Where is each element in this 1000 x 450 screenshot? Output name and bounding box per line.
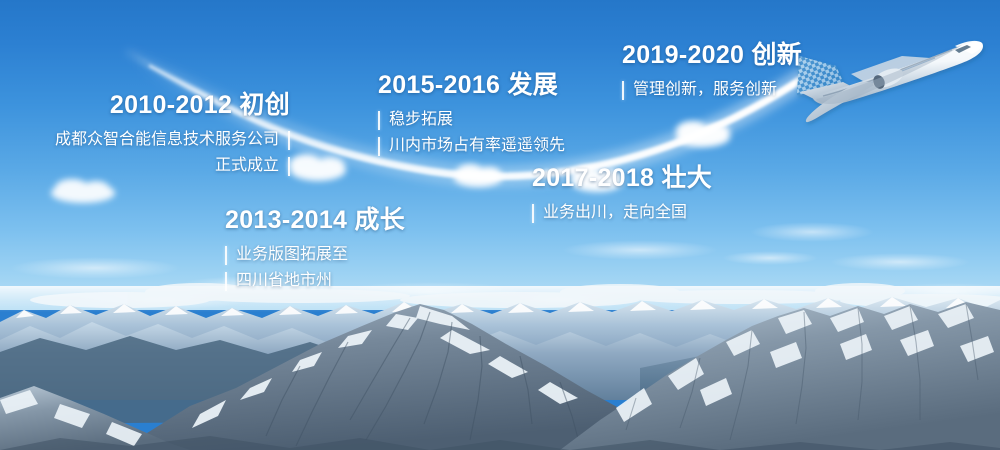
milestone-heading: 2019-2020 创新 <box>622 40 802 70</box>
milestone-heading: 2010-2012 初创 <box>10 90 290 120</box>
milestone-2015-2016: 2015-2016 发展 稳步拓展 川内市场占有率遥遥领先 <box>378 70 565 159</box>
accent-bar <box>225 272 227 291</box>
milestone-2017-2018: 2017-2018 壮大 业务出川，走向全国 <box>532 163 712 226</box>
ridge-mid <box>0 322 1000 400</box>
milestone-line: 成都众智合能信息技术服务公司 <box>10 127 290 153</box>
milestone-line: 管理创新，服务创新 <box>622 77 802 103</box>
milestone-2013-2014: 2013-2014 成长 业务版图拓展至 四川省地市州 <box>225 205 405 294</box>
milestone-line-text: 管理创新，服务创新 <box>633 77 777 103</box>
left-shoulder <box>0 386 190 450</box>
milestone-line-text: 成都众智合能信息技术服务公司 <box>55 127 279 153</box>
milestone-line-text: 业务出川，走向全国 <box>543 200 687 226</box>
milestone-line-text: 业务版图拓展至 <box>236 242 348 268</box>
foreground-ridge <box>0 436 1000 450</box>
accent-bar <box>225 246 227 265</box>
milestone-line: 稳步拓展 <box>378 107 565 133</box>
main-peak-snow <box>192 306 578 428</box>
milestone-line-text: 川内市场占有率遥遥领先 <box>389 133 565 159</box>
milestone-2019-2020: 2019-2020 创新 管理创新，服务创新 <box>622 40 802 103</box>
milestone-line-text: 四川省地市州 <box>236 268 332 294</box>
accent-bar <box>378 111 380 130</box>
accent-bar <box>288 157 290 176</box>
milestone-2010-2012: 2010-2012 初创 成都众智合能信息技术服务公司 正式成立 <box>10 90 290 179</box>
milestone-line: 业务版图拓展至 <box>225 242 405 268</box>
main-peak <box>120 304 700 450</box>
hills-left <box>0 336 520 424</box>
right-range <box>560 302 1000 450</box>
milestone-heading: 2017-2018 壮大 <box>532 163 712 193</box>
valley-floor <box>700 352 1000 396</box>
right-range-texture <box>626 304 978 440</box>
accent-bar <box>532 204 534 223</box>
milestone-heading: 2013-2014 成长 <box>225 205 405 235</box>
main-peak-texture <box>266 312 580 446</box>
accent-bar <box>288 131 290 150</box>
milestone-line: 业务出川，走向全国 <box>532 200 712 226</box>
milestone-line: 正式成立 <box>10 153 290 179</box>
left-shoulder-snow <box>0 390 142 446</box>
milestone-line-text: 稳步拓展 <box>389 107 453 133</box>
milestone-line: 四川省地市州 <box>225 268 405 294</box>
accent-bar <box>622 81 624 100</box>
milestone-line-text: 正式成立 <box>215 153 279 179</box>
valley-shade <box>640 350 1000 412</box>
milestone-heading: 2015-2016 发展 <box>378 70 565 100</box>
timeline-banner: 2010-2012 初创 成都众智合能信息技术服务公司 正式成立 2013-20… <box>0 0 1000 450</box>
milestone-line: 川内市场占有率遥遥领先 <box>378 133 565 159</box>
right-range-snow <box>616 304 994 422</box>
accent-bar <box>378 137 380 156</box>
